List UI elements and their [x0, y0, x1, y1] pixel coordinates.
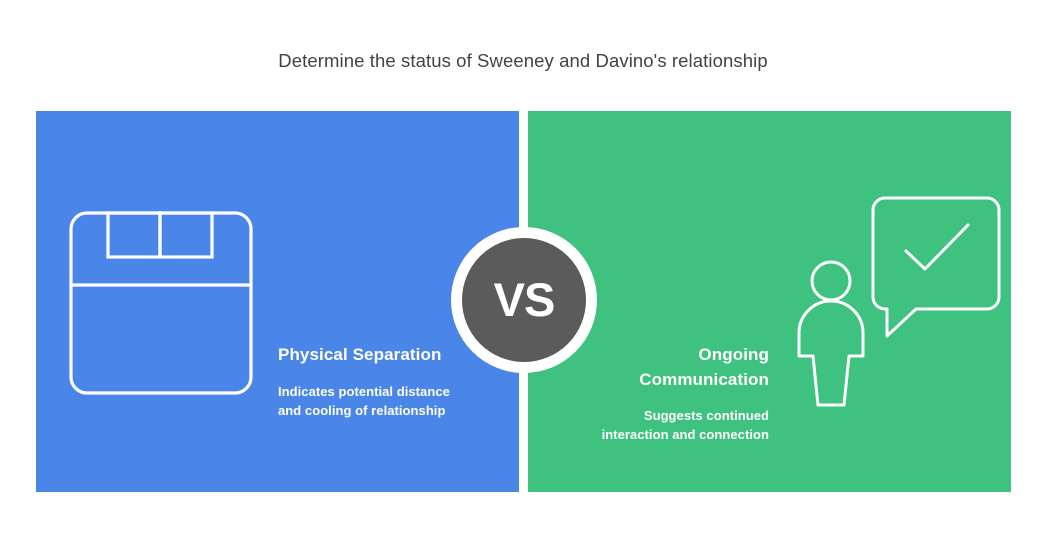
panel-right-heading: Ongoing Communication — [589, 343, 769, 392]
person-speech-bubble-check-icon — [794, 181, 1004, 416]
panel-left-description: Indicates potential distance and cooling… — [278, 382, 458, 420]
comparison-panel-right: Ongoing Communication Suggests continued… — [528, 111, 1011, 492]
vs-badge-label: VS — [494, 276, 555, 323]
vs-badge: VS — [451, 227, 597, 373]
panel-left-heading: Physical Separation — [278, 343, 458, 368]
panel-left-text-block: Physical Separation Indicates potential … — [278, 343, 458, 420]
bed-icon — [68, 210, 254, 401]
panel-right-description: Suggests continued interaction and conne… — [589, 406, 769, 444]
panel-right-text-block: Ongoing Communication Suggests continued… — [589, 343, 769, 444]
page-title: Determine the status of Sweeney and Davi… — [0, 48, 1046, 74]
comparison-panel-left: Physical Separation Indicates potential … — [36, 111, 519, 492]
